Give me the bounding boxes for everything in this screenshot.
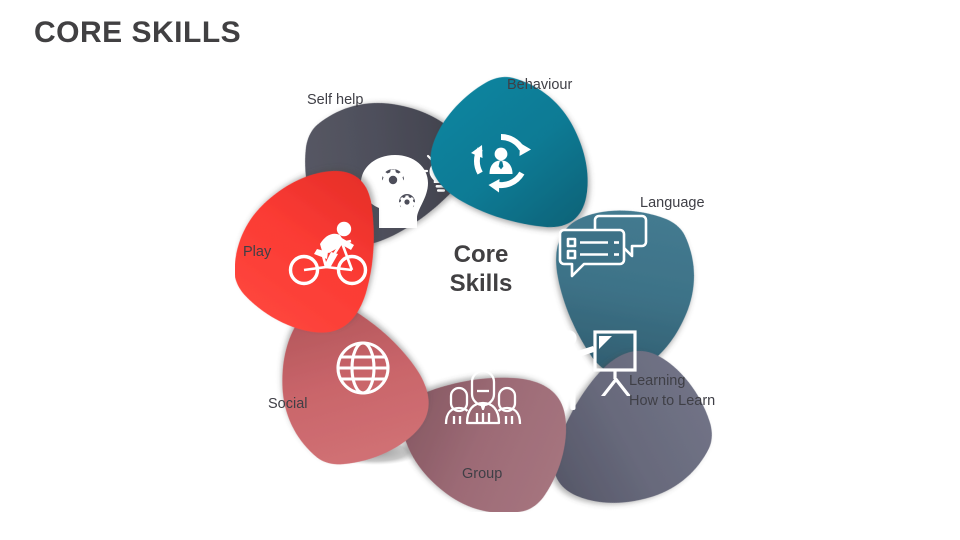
diagram-center-label: Core Skills bbox=[421, 240, 541, 299]
center-label-line-1: Core bbox=[421, 240, 541, 269]
petal-label-learning-how-to-learn: Learning How to Learn bbox=[629, 371, 715, 411]
center-label-line-2: Skills bbox=[421, 269, 541, 298]
petal-label-language: Language bbox=[640, 193, 705, 213]
petal-label-behaviour: Behaviour bbox=[507, 75, 572, 95]
slide-canvas: CORE SKILLS bbox=[0, 0, 960, 540]
petal-behaviour[interactable] bbox=[427, 73, 593, 229]
page-title: CORE SKILLS bbox=[34, 16, 241, 50]
petal-label-group: Group bbox=[462, 464, 502, 484]
petal-label-self-help: Self help bbox=[307, 90, 363, 110]
petal-label-social: Social bbox=[268, 394, 308, 414]
petal-label-play: Play bbox=[243, 242, 271, 262]
core-skills-petal-diagram: Self help Behaviour Language Learning Ho… bbox=[235, 62, 755, 512]
